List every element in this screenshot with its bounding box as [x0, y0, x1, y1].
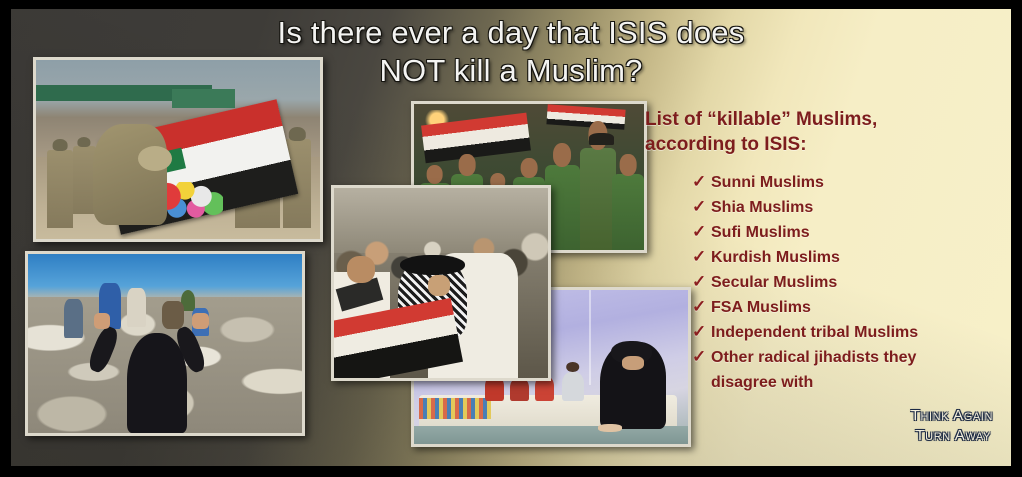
photo-3-beret [589, 133, 614, 145]
photo-4-agal-band [400, 255, 464, 276]
photo-soldiers-coffin [33, 57, 323, 242]
list-item-label: Secular Muslims [711, 274, 837, 291]
killable-list: ✓Sunni Muslims ✓Shia Muslims ✓Sufi Musli… [693, 170, 997, 395]
check-icon: ✓ [692, 269, 706, 294]
photo-4-officer-head [347, 256, 375, 283]
photo-3-mourner [580, 148, 617, 250]
check-icon: ✓ [692, 194, 706, 219]
photo-rubble-woman [25, 251, 305, 436]
check-icon: ✓ [692, 344, 706, 369]
photo-5-child [510, 378, 529, 401]
list-item-label: Independent tribal Muslims [711, 324, 918, 341]
headline-line-1: Is there ever a day that ISIS does [278, 15, 745, 50]
photo-1-canopy-far [172, 89, 234, 109]
photo-2-grieving-woman [127, 333, 187, 433]
list-item: ✓Shia Muslims [693, 195, 997, 220]
photo-5-child [562, 372, 584, 401]
poster-canvas: Is there ever a day that ISIS does NOT k… [11, 9, 1011, 466]
list-item: ✓Secular Muslims [693, 270, 997, 295]
photo-2-hand [192, 313, 208, 329]
photo-1-soldier [47, 150, 73, 229]
list-item-label: Shia Muslims [711, 199, 813, 216]
photo-4-hand [428, 275, 449, 296]
list-item: ✓Sunni Muslims [693, 170, 997, 195]
signature-line-2: Turn Away [911, 426, 993, 446]
list-item: ✓Independent tribal Muslims [693, 320, 997, 345]
photo-3-mourner [612, 174, 644, 250]
photo-2-bystander [162, 301, 184, 330]
list-item-label: Kurdish Muslims [711, 249, 840, 266]
signature-line-1: Think Again [911, 407, 993, 424]
photo-5-woman-hand [622, 356, 644, 370]
photo-1-bowing-soldier [93, 124, 167, 224]
list-item-label: Sunni Muslims [711, 174, 824, 191]
list-item-label: FSA Muslims [711, 299, 811, 316]
photo-1-helmet [138, 146, 172, 171]
check-icon: ✓ [692, 319, 706, 344]
list-item: ✓Kurdish Muslims [693, 245, 997, 270]
list-item: ✓Other radical jihadists they disagree w… [693, 345, 997, 395]
photo-2-bystander [64, 299, 83, 338]
photo-5-tent-seam [589, 290, 591, 385]
check-icon: ✓ [692, 219, 706, 244]
photo-5-woman-feet [598, 424, 623, 432]
killable-list-heading-line-2: according to ISIS: [645, 132, 997, 157]
check-icon: ✓ [692, 169, 706, 194]
list-item-label: Sufi Muslims [711, 224, 810, 241]
campaign-signature: Think Again Turn Away [911, 406, 993, 446]
killable-list-heading: List of “killable” Muslims, according to… [645, 107, 997, 157]
killable-list-heading-line-1: List of “killable” Muslims, [645, 107, 997, 132]
photo-keffiyeh-mourners [331, 185, 551, 381]
photo-2-bystander [127, 288, 146, 327]
list-item-label: Other radical jihadists they disagree wi… [711, 349, 916, 391]
list-item: ✓FSA Muslims [693, 295, 997, 320]
list-item: ✓Sufi Muslims [693, 220, 997, 245]
check-icon: ✓ [692, 244, 706, 269]
photo-5-blanket [419, 398, 490, 420]
check-icon: ✓ [692, 294, 706, 319]
photo-2-hand [94, 313, 110, 329]
killable-list-panel: List of “killable” Muslims, according to… [645, 107, 997, 395]
poster-frame: Is there ever a day that ISIS does NOT k… [0, 0, 1022, 477]
